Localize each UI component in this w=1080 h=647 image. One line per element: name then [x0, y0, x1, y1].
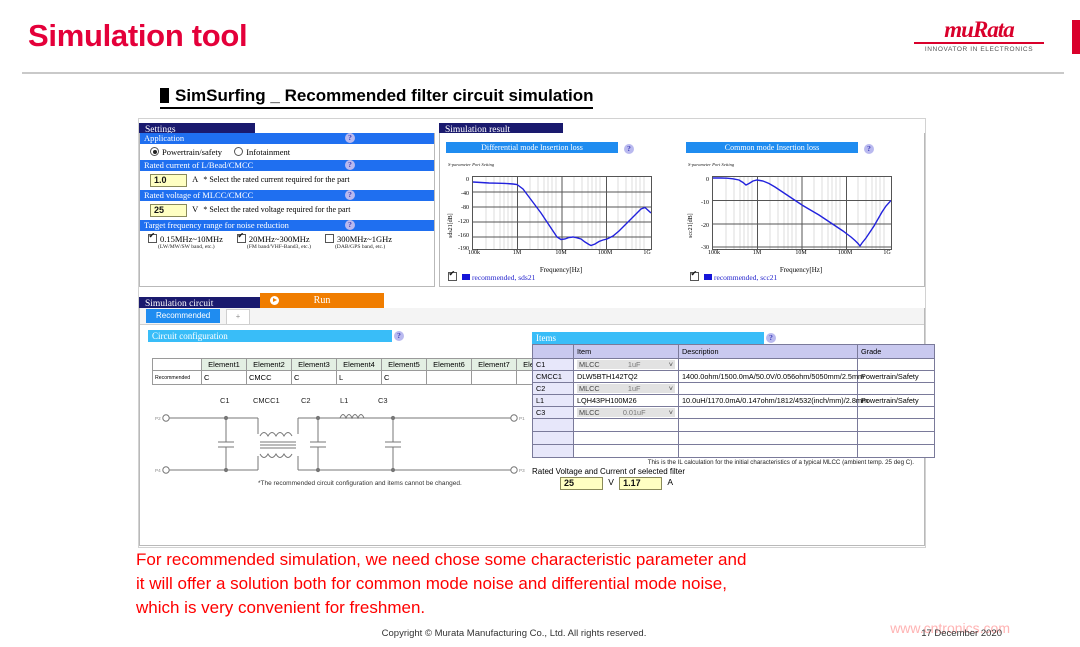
rated-voltage-unit: V	[192, 204, 198, 214]
item-grade-1: Powertrain/Safety	[858, 371, 935, 383]
chart-1-ylabel: scc21[dB]	[688, 213, 694, 238]
chevron-down-icon[interactable]: ˅	[669, 408, 673, 417]
chart-1-ytick-2: -20	[701, 223, 709, 229]
item-type-4: MLCC	[579, 408, 600, 417]
selected-current-input[interactable]: 1.17	[619, 477, 662, 490]
chart-0-plot-area	[472, 176, 652, 250]
square-bullet-icon	[160, 88, 169, 103]
tab-add-new[interactable]: +	[226, 309, 250, 324]
items-bar-label: Items	[536, 333, 556, 343]
chart-0-header: Differential mode Insertion loss ? S-par…	[446, 137, 678, 173]
frequency-band-checkboxes: 0.15MHz~10MHz (LW/MW/SW band, etc.) 20MH…	[140, 231, 434, 250]
chart-0-xticks: 100k 1M 10M 100M 1G	[472, 250, 650, 258]
schematic-label-c2: C2	[301, 396, 311, 405]
element-header-4: Element5	[382, 359, 427, 371]
checkbox-legend-0[interactable]	[448, 272, 457, 281]
chart-1-help-icon[interactable]: ?	[864, 144, 874, 154]
checkbox-band-2[interactable]	[325, 234, 334, 243]
rated-current-unit: A	[192, 174, 198, 184]
footer: Copyright © Murata Manufacturing Co., Lt…	[0, 628, 1080, 639]
chart-0-ytick-1: -40	[461, 191, 469, 197]
chart-1-header: Common mode Insertion loss ? S-parameter…	[686, 137, 918, 173]
items-header-key	[533, 345, 574, 359]
checkbox-band-0[interactable]	[148, 234, 157, 243]
selected-current-unit: A	[667, 477, 673, 487]
items-header-desc: Description	[679, 345, 858, 359]
radio-powertrain-safety[interactable]	[150, 147, 159, 156]
chart-1-xtick-2: 10M	[795, 250, 806, 256]
circuit-note: *The recommended circuit configuration a…	[258, 480, 462, 487]
element-header-0: Element1	[202, 359, 247, 371]
chart-1-legend[interactable]: recommended, scc21	[690, 272, 777, 282]
radio-infotainment[interactable]	[234, 147, 243, 156]
chart-1-xtick-3: 100M	[838, 250, 852, 256]
items-header-row: Item Description Grade	[533, 345, 935, 359]
logo-wordmark: muRata	[914, 18, 1044, 41]
chart-0-xtick-1: 1M	[513, 250, 521, 256]
item-type-2: MLCC	[579, 384, 600, 393]
logo-edge-bar	[1072, 20, 1080, 54]
element-value-6[interactable]	[472, 371, 517, 385]
rated-current-input[interactable]: 1.0	[150, 174, 187, 187]
element-value-2[interactable]: C	[292, 371, 337, 385]
item-type-5[interactable]	[574, 419, 679, 432]
settings-body: Application ? Powertrain/safety Infotain…	[139, 133, 435, 287]
rated-filter-label: Rated Voltage and Current of selected fi…	[532, 467, 914, 476]
item-value-4: 0.01uF	[623, 408, 646, 417]
chevron-down-icon[interactable]: ˅	[669, 360, 673, 369]
chart-1-ytick-1: -10	[701, 200, 709, 206]
chart-0-ylabel: sds21[dB]	[448, 213, 454, 238]
item-desc-1: 1400.0ohm/1500.0mA/50.0V/0.056ohm/5050mm…	[679, 371, 858, 383]
band-1-sub: (FM band/VHF-Band3, etc.)	[237, 244, 311, 250]
application-help-icon[interactable]: ?	[345, 133, 355, 143]
band-option-2[interactable]: 300MHz~1GHz (DAB/GPS band, etc.)	[325, 234, 392, 250]
rated-voltage-bar: Rated voltage of MLCC/CMCC ?	[140, 190, 434, 201]
chart-1-xtick-0: 100k	[708, 250, 720, 256]
rated-voltage-bar-label: Rated voltage of MLCC/CMCC	[144, 190, 253, 200]
band-0-label: 0.15MHz~10MHz	[160, 234, 223, 244]
caption-line-3: which is very convenient for freshmen.	[136, 596, 996, 620]
chart-1-plot-area	[712, 176, 892, 250]
rated-voltage-help-icon[interactable]: ?	[345, 190, 355, 200]
rated-voltage-note: * Select the rated voltage required for …	[203, 205, 350, 214]
element-table-corner	[153, 359, 202, 371]
schematic-svg: P2 P4 P1 P3	[150, 408, 530, 480]
settings-tabbar: Settings	[139, 119, 435, 133]
chart-common-mode: Common mode Insertion loss ? S-parameter…	[686, 137, 918, 274]
item-type-6[interactable]	[574, 432, 679, 445]
items-help-icon[interactable]: ?	[766, 333, 776, 343]
circuit-schematic: C1 CMCC1 C2 L1 C3	[150, 396, 530, 476]
item-grade-6	[858, 432, 935, 445]
header-divider	[22, 72, 1064, 74]
table-row: C2 MLCC1uF˅	[533, 383, 935, 395]
run-button[interactable]: Run	[260, 293, 384, 308]
run-button-label: Run	[314, 295, 331, 306]
murata-logo: muRata INNOVATOR IN ELECTRONICS	[914, 18, 1044, 53]
chart-0-ytick-0: 0	[466, 177, 469, 183]
circuit-subtabs: Recommended +	[140, 308, 924, 325]
rated-voltage-row: 25 V * Select the rated voltage required…	[140, 201, 434, 220]
chart-0-ytick-3: -120	[458, 219, 469, 225]
svg-text:P1: P1	[519, 416, 525, 421]
items-header-grade: Grade	[858, 345, 935, 359]
chart-0-xtick-4: 1G	[643, 250, 650, 256]
rated-voltage-input[interactable]: 25	[150, 204, 187, 217]
element-value-5[interactable]	[427, 371, 472, 385]
target-frequency-bar-label: Target frequency range for noise reducti…	[144, 220, 289, 230]
item-key-0: C1	[533, 359, 574, 371]
chart-differential-mode: Differential mode Insertion loss ? S-par…	[446, 137, 678, 274]
simsurfing-app-window: Settings Application ? Powertrain/safety…	[138, 118, 926, 548]
circuit-body: Recommended + Circuit configuration ? El…	[139, 308, 925, 546]
item-key-3: L1	[533, 395, 574, 407]
chart-0-sparam-note[interactable]: S-parameter Port Setting	[448, 162, 494, 167]
item-key-5	[533, 419, 574, 432]
legend-0-label: recommended, sds21	[472, 273, 535, 282]
item-key-2: C2	[533, 383, 574, 395]
element-value-1[interactable]: CMCC	[247, 371, 292, 385]
band-2-label: 300MHz~1GHz	[337, 234, 392, 244]
rated-current-note: * Select the rated current required for …	[203, 175, 349, 184]
chart-0-svg	[473, 177, 651, 249]
chart-0-legend[interactable]: recommended, sds21	[448, 272, 535, 282]
table-row	[533, 432, 935, 445]
band-1-label: 20MHz~300MHz	[249, 234, 310, 244]
item-grade-5	[858, 419, 935, 432]
item-desc-7	[679, 445, 858, 458]
element-header-6: Element7	[472, 359, 517, 371]
items-bar: Items ?	[532, 332, 764, 344]
table-row	[533, 445, 935, 458]
chart-1-xticks: 100k 1M 10M 100M 1G	[712, 250, 890, 258]
element-table-header-row: Element1 Element2 Element3 Element4 Elem…	[153, 359, 562, 371]
chart-1-sparam-note[interactable]: S-parameter Port Setting	[688, 162, 734, 167]
band-2-sub: (DAB/GPS band, etc.)	[325, 244, 392, 250]
simulation-result-panel: Simulation result Differential mode Inse…	[439, 119, 925, 289]
item-key-1: CMCC1	[533, 371, 574, 383]
item-key-4: C3	[533, 407, 574, 419]
item-desc-6	[679, 432, 858, 445]
result-tabbar: Simulation result	[439, 119, 925, 133]
radio-infotainment-label: Infotainment	[246, 147, 290, 157]
table-row	[533, 419, 935, 432]
item-key-7	[533, 445, 574, 458]
radio-powertrain-safety-label: Powertrain/safety	[162, 147, 222, 157]
band-option-0[interactable]: 0.15MHz~10MHz (LW/MW/SW band, etc.)	[148, 234, 223, 250]
table-row: C1 MLCC1uF˅	[533, 359, 935, 371]
item-value-2: 1uF	[628, 384, 641, 393]
item-type-7[interactable]	[574, 445, 679, 458]
item-type-3[interactable]: LQH43PH100M26	[574, 395, 679, 407]
element-value-4[interactable]: C	[382, 371, 427, 385]
rated-current-bar-label: Rated current of L/Bead/CMCC	[144, 160, 253, 170]
element-header-3: Element4	[337, 359, 382, 371]
il-calculation-note: This is the IL calculation for the initi…	[532, 459, 914, 466]
settings-panel: Settings Application ? Powertrain/safety…	[139, 119, 435, 289]
footer-date: 17 December 2020	[921, 628, 1002, 639]
checkbox-legend-1[interactable]	[690, 272, 699, 281]
circuit-tabbar: Simulation circuit Run	[139, 293, 925, 308]
section-heading: SimSurfing _ Recommended filter circuit …	[160, 86, 593, 109]
application-options: Powertrain/safety Infotainment	[140, 144, 434, 160]
item-select-0[interactable]: MLCC1uF˅	[574, 359, 679, 371]
items-header-item: Item	[574, 345, 679, 359]
item-grade-3: Powertrain/Safety	[858, 395, 935, 407]
svg-text:P4: P4	[155, 468, 161, 473]
item-type-1[interactable]: DLW5BTH142TQ2	[574, 371, 679, 383]
caption-line-1: For recommended simulation, we need chos…	[136, 548, 996, 572]
band-option-1[interactable]: 20MHz~300MHz (FM band/VHF-Band3, etc.)	[237, 234, 311, 250]
table-row: L1 LQH43PH100M26 10.0uH/1170.0mA/0.147oh…	[533, 395, 935, 407]
item-desc-4	[679, 407, 858, 419]
item-desc-3: 10.0uH/1170.0mA/0.147ohm/1812/4532(inch/…	[679, 395, 858, 407]
legend-1-label: recommended, scc21	[714, 273, 777, 282]
copyright-text: Copyright © Murata Manufacturing Co., Lt…	[382, 628, 647, 639]
tab-recommended[interactable]: Recommended	[146, 309, 220, 323]
element-header-1: Element2	[247, 359, 292, 371]
simulation-circuit-panel: Simulation circuit Run Recommended + Cir…	[139, 293, 925, 547]
chart-0-title: Differential mode Insertion loss	[446, 142, 618, 153]
item-desc-2	[679, 383, 858, 395]
rated-filter-values: 25 V 1.17 A	[532, 477, 914, 490]
application-bar-label: Application	[144, 133, 184, 143]
play-icon	[270, 296, 279, 305]
circuit-configuration-bar: Circuit configuration ?	[148, 330, 392, 342]
chart-0-xtick-3: 100M	[598, 250, 612, 256]
item-desc-5	[679, 419, 858, 432]
checkbox-band-1[interactable]	[237, 234, 246, 243]
items-area: Items ? Item Description Grade C1 MLCC1u…	[532, 332, 914, 490]
element-row-label: Recommended	[153, 371, 202, 385]
selected-voltage-input[interactable]: 25	[560, 477, 603, 490]
schematic-label-c3: C3	[378, 396, 388, 405]
chart-1-xtick-1: 1M	[753, 250, 761, 256]
table-row: C3 MLCC0.01uF˅	[533, 407, 935, 419]
item-select-2[interactable]: MLCC1uF˅	[574, 383, 679, 395]
element-table-row: Recommended C CMCC C L C	[153, 371, 562, 385]
chart-0-help-icon[interactable]: ?	[624, 144, 634, 154]
logo-tagline: INNOVATOR IN ELECTRONICS	[914, 46, 1044, 53]
logo-underline	[914, 42, 1044, 44]
chart-0-ytick-2: -80	[461, 205, 469, 211]
result-body: Differential mode Insertion loss ? S-par…	[439, 133, 925, 287]
legend-1-swatch-icon	[704, 274, 712, 280]
legend-0-swatch-icon	[462, 274, 470, 280]
schematic-label-l1: L1	[340, 396, 348, 405]
svg-text:P2: P2	[155, 416, 161, 421]
chart-0-xtick-2: 10M	[555, 250, 566, 256]
item-value-0: 1uF	[628, 360, 641, 369]
section-heading-label: SimSurfing _ Recommended filter circuit …	[175, 86, 593, 105]
table-row: CMCC1 DLW5BTH142TQ2 1400.0ohm/1500.0mA/5…	[533, 371, 935, 383]
items-table: Item Description Grade C1 MLCC1uF˅ CMCC1	[532, 344, 935, 458]
element-table: Element1 Element2 Element3 Element4 Elem…	[152, 358, 562, 385]
page-title: Simulation tool	[28, 18, 247, 54]
schematic-label-c1: C1	[220, 396, 230, 405]
chevron-down-icon[interactable]: ˅	[669, 384, 673, 393]
rated-current-bar: Rated current of L/Bead/CMCC ?	[140, 160, 434, 171]
chart-1-ytick-0: 0	[706, 177, 709, 183]
item-grade-4	[858, 407, 935, 419]
item-desc-0	[679, 359, 858, 371]
caption-line-2: it will offer a solution both for common…	[136, 572, 996, 596]
item-grade-0	[858, 359, 935, 371]
rated-current-row: 1.0 A * Select the rated current require…	[140, 171, 434, 190]
item-grade-7	[858, 445, 935, 458]
caption-text: For recommended simulation, we need chos…	[136, 548, 996, 620]
chart-1-xtick-4: 1G	[883, 250, 890, 256]
circuit-configuration-label: Circuit configuration	[152, 331, 228, 341]
item-type-0: MLCC	[579, 360, 600, 369]
chart-1-svg	[713, 177, 891, 249]
chart-0-ytick-4: -160	[458, 233, 469, 239]
band-0-sub: (LW/MW/SW band, etc.)	[148, 244, 223, 250]
target-frequency-bar: Target frequency range for noise reducti…	[140, 220, 434, 231]
selected-voltage-unit: V	[608, 477, 614, 487]
element-value-0[interactable]: C	[202, 371, 247, 385]
item-key-6	[533, 432, 574, 445]
svg-text:P3: P3	[519, 468, 525, 473]
element-header-2: Element3	[292, 359, 337, 371]
chart-0-xtick-0: 100k	[468, 250, 480, 256]
target-frequency-help-icon[interactable]: ?	[345, 220, 355, 230]
rated-current-help-icon[interactable]: ?	[345, 160, 355, 170]
element-value-3[interactable]: L	[337, 371, 382, 385]
application-bar: Application ?	[140, 133, 434, 144]
item-select-4[interactable]: MLCC0.01uF˅	[574, 407, 679, 419]
item-grade-2	[858, 383, 935, 395]
chart-1-title: Common mode Insertion loss	[686, 142, 858, 153]
schematic-label-cmcc1: CMCC1	[253, 396, 280, 405]
element-header-5: Element6	[427, 359, 472, 371]
circuit-configuration-help-icon[interactable]: ?	[394, 331, 404, 341]
